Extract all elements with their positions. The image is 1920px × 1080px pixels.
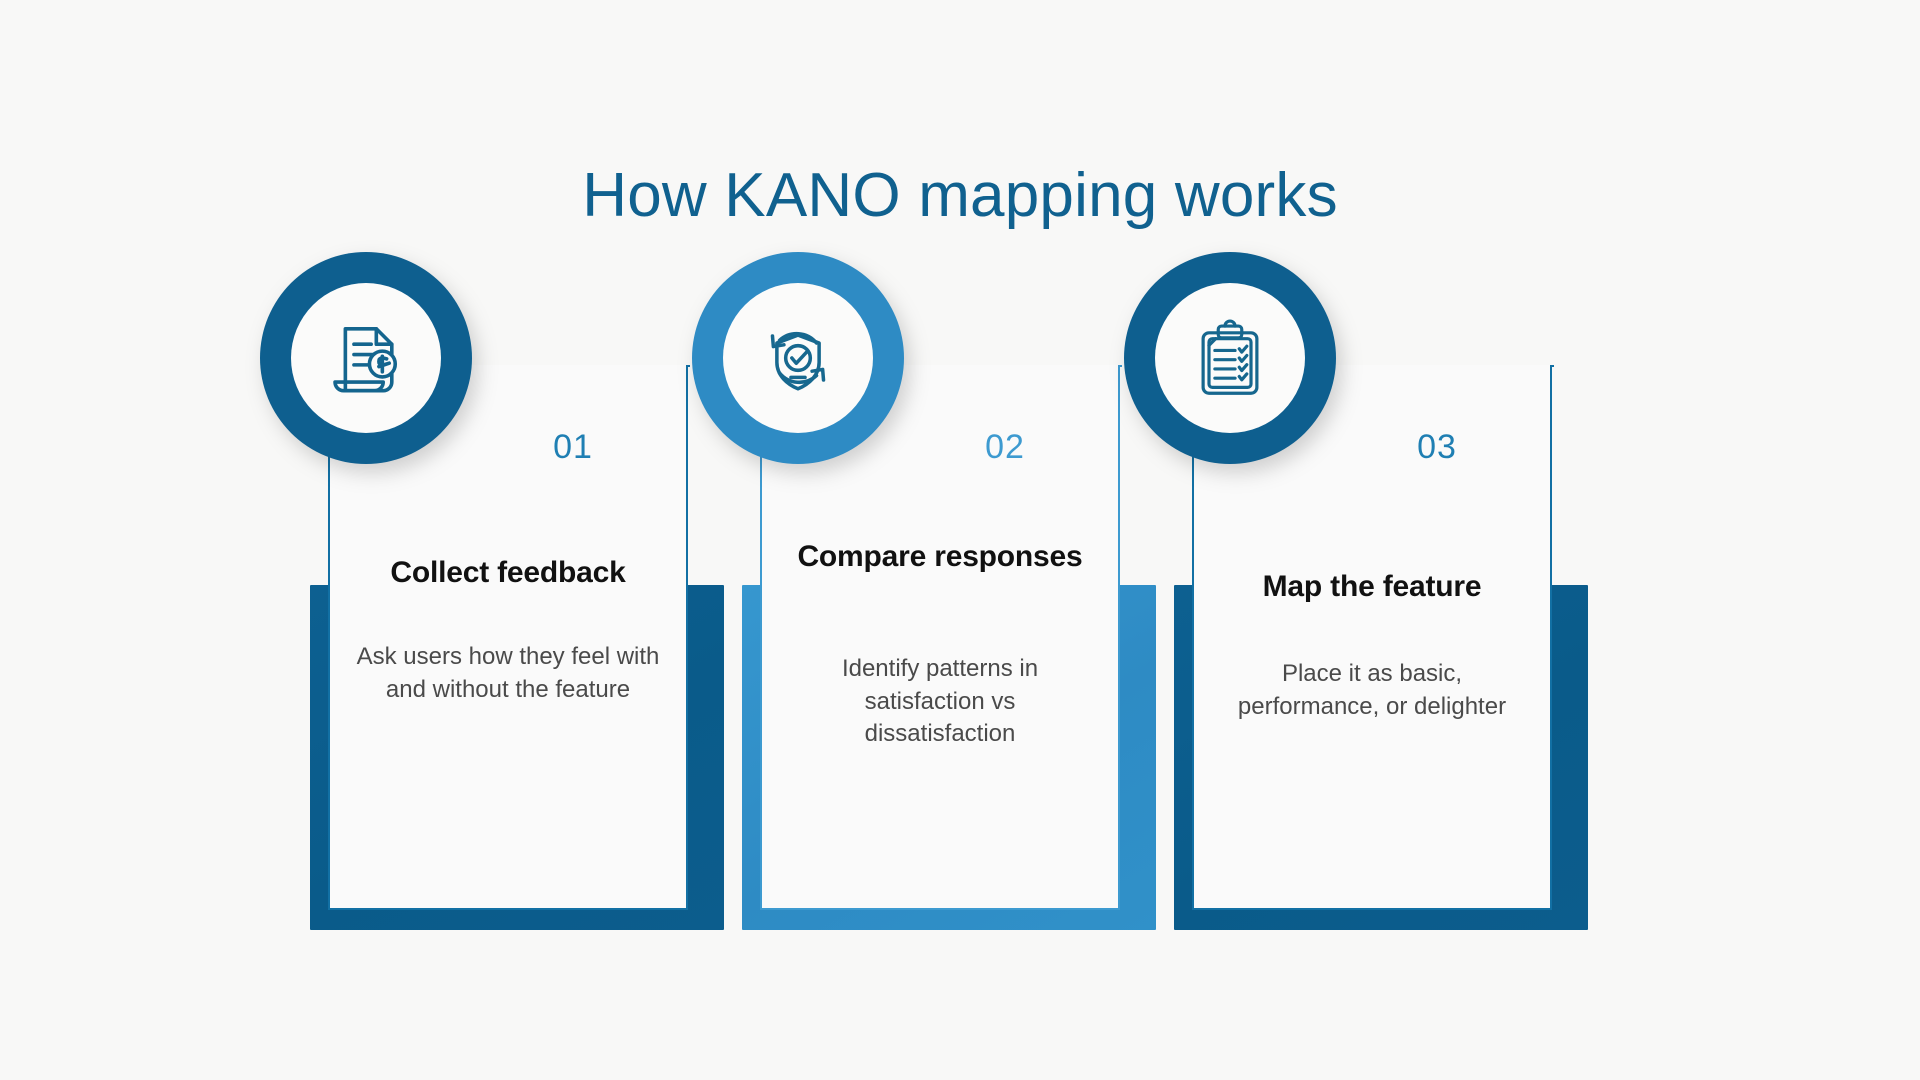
badge-inner-circle	[1155, 283, 1305, 433]
step-card-3[interactable]: 03 Map the feature Place it as basic, pe…	[1192, 300, 1592, 940]
step-card-2[interactable]: 02 Compare responses Identify patterns i…	[760, 300, 1160, 940]
infographic-canvas: How KANO mapping works 01 Collect feedba…	[0, 0, 1920, 1080]
clipboard-checklist-icon	[1188, 316, 1272, 400]
step-description: Place it as basic, performance, or delig…	[1218, 658, 1526, 723]
step-title: Collect feedback	[348, 554, 668, 592]
badge-inner-circle	[723, 283, 873, 433]
shield-check-refresh-icon	[754, 314, 842, 402]
step-badge[interactable]	[1124, 252, 1336, 464]
invoice-document-dollar-icon	[323, 315, 409, 401]
step-title: Compare responses	[780, 538, 1100, 576]
step-title: Map the feature	[1212, 568, 1532, 606]
step-description: Identify patterns in satisfaction vs dis…	[786, 653, 1094, 751]
step-card-1[interactable]: 01 Collect feedback Ask users how they f…	[328, 300, 728, 940]
page-title: How KANO mapping works	[0, 160, 1920, 231]
badge-inner-circle	[291, 283, 441, 433]
step-badge[interactable]	[692, 252, 904, 464]
step-description: Ask users how they feel with and without…	[354, 641, 662, 706]
steps-container: 01 Collect feedback Ask users how they f…	[328, 300, 1608, 940]
step-badge[interactable]	[260, 252, 472, 464]
